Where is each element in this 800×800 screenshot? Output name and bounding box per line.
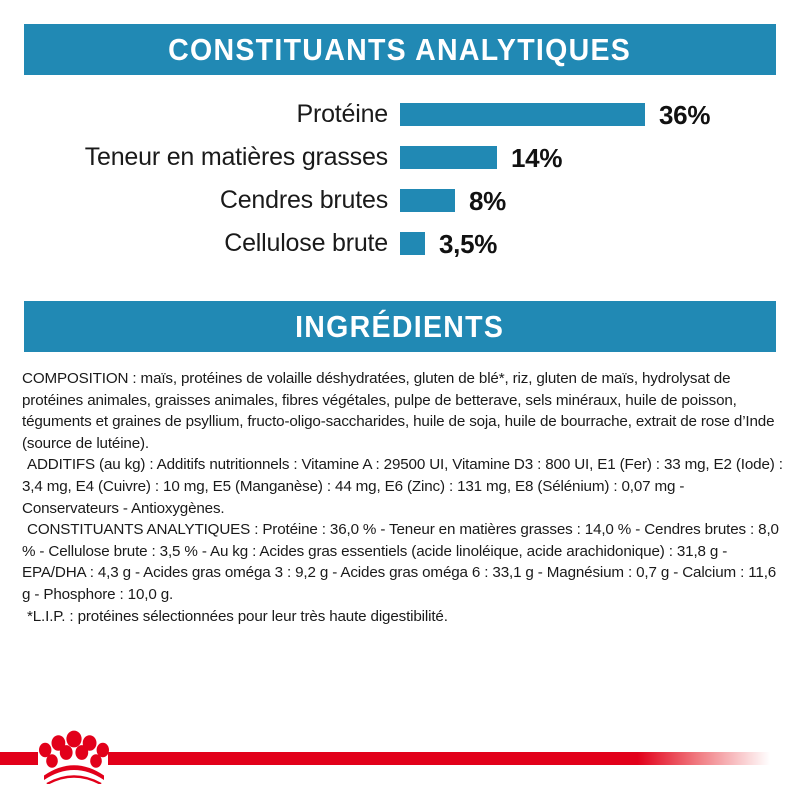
chart-row: Cellulose brute 3,5%	[0, 222, 800, 265]
ingredients-paragraph-additives: ADDITIFS (au kg) : Additifs nutritionnel…	[22, 454, 784, 519]
chart-category-label: Cendres brutes	[0, 188, 388, 213]
chart-value-label: 14%	[511, 145, 562, 171]
chart-category-label: Cellulose brute	[0, 231, 388, 256]
chart-bar-group: 36%	[400, 93, 710, 136]
footer-rule-left	[0, 752, 38, 765]
footer-brandmark	[0, 744, 800, 800]
section-header-ingredients: INGRÉDIENTS	[24, 301, 776, 352]
chart-value-label: 8%	[469, 188, 506, 214]
chart-category-label: Protéine	[0, 102, 388, 127]
analytical-constituents-bar-chart: Protéine 36% Teneur en matières grasses …	[0, 93, 800, 268]
chart-bar-group: 14%	[400, 136, 562, 179]
chart-bar-group: 8%	[400, 179, 506, 222]
chart-row: Protéine 36%	[0, 93, 800, 136]
chart-row: Cendres brutes 8%	[0, 179, 800, 222]
ingredients-paragraph-composition: COMPOSITION : maïs, protéines de volaill…	[22, 368, 784, 454]
ingredients-body-text: COMPOSITION : maïs, protéines de volaill…	[22, 368, 784, 627]
section-header-analytical-constituents: CONSTITUANTS ANALYTIQUES	[24, 24, 776, 75]
chart-bar	[400, 103, 645, 126]
royal-canin-crown-icon	[38, 722, 110, 784]
chart-bar	[400, 232, 425, 255]
footer-rule-right	[108, 752, 770, 765]
section-title-analytical-constituents: CONSTITUANTS ANALYTIQUES	[169, 34, 632, 65]
chart-bar-group: 3,5%	[400, 222, 497, 265]
chart-bar	[400, 146, 497, 169]
ingredients-footnote-lip: *L.I.P. : protéines sélectionnées pour l…	[22, 606, 784, 628]
chart-value-label: 36%	[659, 102, 710, 128]
chart-category-label: Teneur en matières grasses	[0, 145, 388, 170]
chart-row: Teneur en matières grasses 14%	[0, 136, 800, 179]
section-title-ingredients: INGRÉDIENTS	[295, 311, 504, 342]
ingredients-paragraph-analytical-constituents: CONSTITUANTS ANALYTIQUES : Protéine : 36…	[22, 519, 784, 605]
chart-bar	[400, 189, 455, 212]
chart-value-label: 3,5%	[439, 231, 497, 257]
